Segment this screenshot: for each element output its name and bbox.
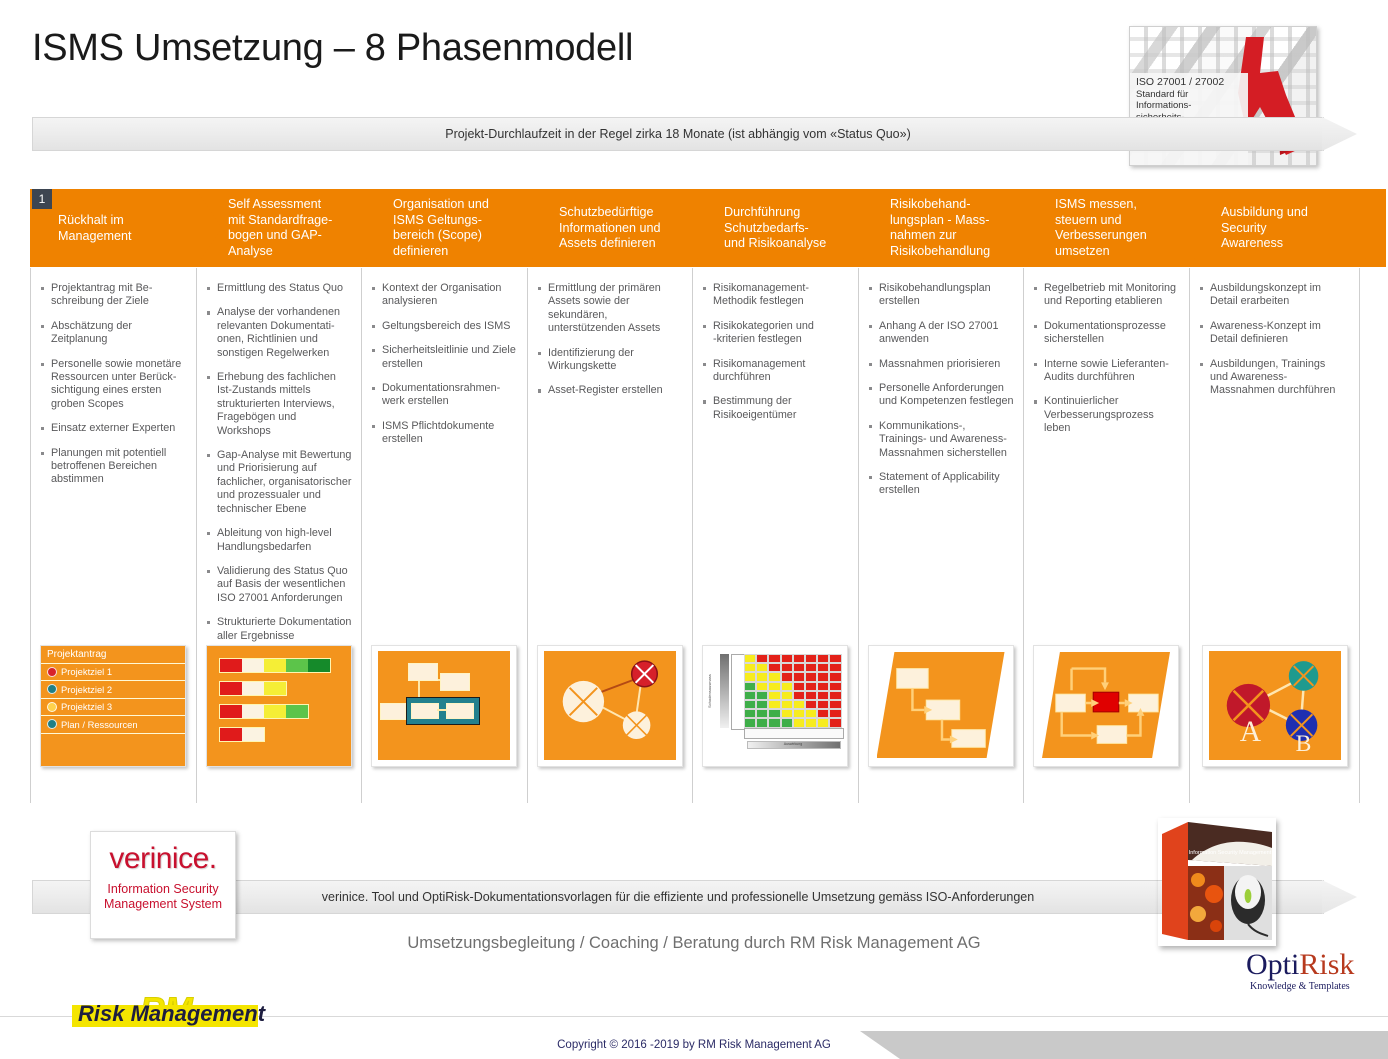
projektantrag-row: Projektziel 1 [41, 664, 185, 682]
risk-matrix-cell [744, 691, 756, 700]
risk-matrix-cell [768, 672, 780, 681]
node-box [380, 703, 406, 720]
scope-diagram [378, 651, 510, 760]
bullet-item: Ermittlung der primären Assets sowie der… [538, 282, 684, 336]
phase-bullet-list-3: Kontext der Organisation analysierenGelt… [362, 268, 527, 447]
bullet-item: Ermittlung des Status Quo [207, 282, 353, 295]
gap-bar [219, 727, 265, 742]
gap-bar-segment [286, 705, 308, 718]
phase-bullet-list-2: Ermittlung des Status QuoAnalyse der vor… [197, 268, 361, 643]
risk-matrix-cell [768, 682, 780, 691]
status-dot-icon [47, 719, 57, 729]
node-box [411, 703, 439, 719]
flow-loop-parallelogram [1042, 652, 1170, 758]
rm-wordmark: Risk Management [78, 1001, 265, 1027]
gap-bar-segment [242, 728, 264, 741]
abc-graph-svg: AB [1209, 651, 1341, 760]
risk-matrix-cell [781, 672, 793, 681]
bullet-item: Awareness-Konzept im Detail definieren [1200, 320, 1351, 347]
flow-diagram-svg [877, 652, 1005, 758]
status-dot-icon [47, 684, 57, 694]
gap-bar-segment [220, 659, 242, 672]
bullet-item: Risikobehandlungsplan erstellen [869, 282, 1015, 309]
risk-matrix-cell [793, 672, 805, 681]
risk-matrix-cell [793, 718, 805, 727]
risk-matrix-ylabel: Schadensausmass [707, 654, 719, 728]
bullet-item: Risikomanagement- Methodik festlegen [703, 282, 850, 309]
risk-matrix-cell [756, 691, 768, 700]
risk-matrix-cell [768, 691, 780, 700]
risk-matrix-cell [829, 691, 841, 700]
page-title: ISMS Umsetzung – 8 Phasenmodell [32, 28, 633, 70]
risk-matrix-cell [756, 700, 768, 709]
status-dot-icon [47, 667, 57, 677]
risk-matrix-cell [781, 691, 793, 700]
bullet-item: Kommunikations-, Trainings- und Awarenes… [869, 420, 1015, 460]
phase-chevron-8[interactable]: 8Ausbildung und Security Awareness [1189, 189, 1386, 267]
svg-text:Information Security Managemen: Information Security Management [1189, 850, 1272, 856]
bullet-item: Asset-Register erstellen [538, 384, 684, 397]
bullet-item: Risikokategorien und -kriterien festlege… [703, 320, 850, 347]
connector [437, 709, 446, 711]
phase-number-badge-1: 1 [32, 189, 52, 209]
phase-chevron-3[interactable]: 3Organisation und ISMS Geltungs- bereich… [361, 189, 553, 267]
risk-matrix-cell [805, 654, 817, 663]
phase-chevron-4[interactable]: 4Schutzbedürftige Informationen und Asse… [527, 189, 718, 267]
phase-thumbnail-1[interactable]: ProjektantragProjektziel 1Projektziel 2P… [40, 645, 186, 767]
gap-bar-segment [242, 659, 264, 672]
phase-title-1: Rückhalt im Management [58, 213, 192, 244]
duration-banner-label: Projekt-Durchlaufzeit in der Regel zirka… [32, 117, 1324, 151]
phase-thumbnail-2[interactable] [206, 645, 352, 767]
phase-title-6: Risikobehand- lungsplan - Mass- nahmen z… [890, 197, 1019, 259]
projektantrag-table: ProjektantragProjektziel 1Projektziel 2P… [41, 646, 185, 766]
phase-bullet-list-4: Ermittlung der primären Assets sowie der… [528, 268, 692, 398]
asset-graph-svg [544, 651, 676, 760]
projektantrag-row-label: Projektziel 2 [61, 684, 112, 695]
bullet-item: Kontext der Organisation analysieren [372, 282, 519, 309]
bullet-item: Dokumentationsprozesse sicherstellen [1034, 320, 1181, 347]
bullet-item: Massnahmen priorisieren [869, 358, 1015, 371]
optirisk-wordmark: OptiRisk [1246, 950, 1388, 980]
phase-chevron-5[interactable]: 5Durchführung Schutzbedarfs- und Risikoa… [692, 189, 884, 267]
risk-matrix-cell [817, 700, 829, 709]
risk-matrix-cell [744, 663, 756, 672]
gap-bar-segment [264, 705, 286, 718]
verinice-logo: verinice. Information Security Managemen… [90, 831, 236, 939]
asset-graph [544, 651, 676, 760]
bullet-item: Erhebung des fachlichen Ist-Zustands mit… [207, 371, 353, 438]
bullet-item: Projektantrag mit Be- schreibung der Zie… [41, 282, 188, 309]
phase-chevron-6[interactable]: 6Risikobehand- lungsplan - Mass- nahmen … [858, 189, 1049, 267]
bullet-item: Validierung des Status Quo auf Basis der… [207, 565, 353, 605]
risk-matrix-cell [744, 672, 756, 681]
bullet-item: Geltungsbereich des ISMS [372, 320, 519, 333]
svg-text:B: B [1295, 731, 1311, 757]
risk-matrix-cell [744, 682, 756, 691]
risk-matrix-y-gradient [720, 654, 729, 728]
gap-bar-segment [220, 728, 242, 741]
risk-matrix-cell [756, 654, 768, 663]
risk-matrix-cell [829, 709, 841, 718]
bullet-item: Einsatz externer Experten [41, 422, 188, 435]
svg-text:A: A [1239, 716, 1261, 748]
node-box [440, 673, 470, 691]
bullet-item: Planungen mit potentiell betroffenen Ber… [41, 447, 188, 487]
optirisk-word-risk: Risk [1299, 948, 1354, 981]
risk-matrix-cell [817, 682, 829, 691]
bullet-item: Sicherheitsleitlinie und Ziele erstellen [372, 344, 519, 371]
bullet-item: ISMS Pflichtdokumente erstellen [372, 420, 519, 447]
bullet-item: Identifizierung der Wirkungskette [538, 347, 684, 374]
iso-line3: Informations- [1136, 100, 1244, 112]
copyright-label: Copyright © 2016 -2019 by RM Risk Manage… [0, 1031, 1388, 1059]
phase-thumbnail-8[interactable]: AB [1202, 645, 1348, 767]
phase-thumbnail-row: ProjektantragProjektziel 1Projektziel 2P… [30, 645, 1360, 775]
bullet-item: Anhang A der ISO 27001 anwenden [869, 320, 1015, 347]
phase-title-8: Ausbildung und Security Awareness [1221, 205, 1356, 252]
gap-bar-segment [242, 705, 264, 718]
risk-matrix-cell [805, 672, 817, 681]
copyright-bar: Copyright © 2016 -2019 by RM Risk Manage… [0, 1031, 1388, 1059]
risk-matrix-cell [793, 700, 805, 709]
risk-matrix-cell [768, 709, 780, 718]
projektantrag-row: Projektziel 2 [41, 681, 185, 699]
risk-matrix-cell [805, 709, 817, 718]
risk-matrix-cell [793, 709, 805, 718]
bullet-item: Ausbildungen, Trainings und Awareness- M… [1200, 358, 1351, 398]
phase-title-4: Schutzbedürftige Informationen und Asset… [559, 205, 688, 252]
risk-matrix-cell [805, 682, 817, 691]
phase-title-3: Organisation und ISMS Geltungs- bereich … [393, 197, 523, 259]
risk-matrix-cell [768, 718, 780, 727]
bullet-item: Risikomanagement durchführen [703, 358, 850, 385]
risk-matrix-cell [768, 663, 780, 672]
phase-title-5: Durchführung Schutzbedarfs- und Risikoan… [724, 205, 854, 252]
phase-thumbnail-7[interactable] [1033, 645, 1179, 767]
risk-matrix-cell [817, 718, 829, 727]
bullet-item: Strukturierte Dokumentation aller Ergebn… [207, 616, 353, 643]
gap-bar [219, 704, 309, 719]
risk-matrix-cell [781, 682, 793, 691]
risk-matrix-cell [805, 663, 817, 672]
slide-root: ISMS Umsetzung – 8 Phasenmodell ISO 2700… [0, 0, 1388, 1059]
risk-matrix-rowheads [731, 654, 745, 730]
risk-matrix-cell [744, 709, 756, 718]
bullet-item: Interne sowie Lieferanten- Audits durchf… [1034, 358, 1181, 385]
phase-chevron-7[interactable]: 7ISMS messen, steuern und Verbesserungen… [1023, 189, 1215, 267]
risk-matrix-cell [768, 700, 780, 709]
gap-bar-segment [286, 659, 308, 672]
phase-bullet-list-1: Projektantrag mit Be- schreibung der Zie… [31, 268, 196, 487]
phase-header-row: 1Rückhalt im Management2Self Assessment … [30, 189, 1360, 267]
risk-matrix-cell [756, 709, 768, 718]
risk-matrix-cell [793, 691, 805, 700]
iso-line2: Standard für [1136, 89, 1244, 101]
risk-matrix-cell [744, 718, 756, 727]
phase-title-7: ISMS messen, steuern und Verbesserungen … [1055, 197, 1185, 259]
gap-bar-segment [220, 682, 242, 695]
risk-matrix-xaxis [744, 728, 844, 739]
phase-title-2: Self Assessment mit Standardfrage- bogen… [228, 197, 357, 259]
risk-matrix-cell [817, 672, 829, 681]
abc-graph: AB [1209, 651, 1341, 760]
phase-bullet-list-6: Risikobehandlungsplan erstellenAnhang A … [859, 268, 1023, 498]
risk-matrix-cell [817, 709, 829, 718]
risk-matrix-cell [781, 654, 793, 663]
tools-band-arrow-tip [1322, 880, 1357, 914]
phase-thumbnail-5[interactable]: SchadensausmassAuswirkung [702, 645, 848, 767]
risk-matrix-cell [829, 682, 841, 691]
flow-loop-svg [1042, 652, 1170, 758]
projektantrag-row-label: Projektziel 1 [61, 666, 112, 677]
risk-matrix-cell [781, 663, 793, 672]
bullet-item: Abschätzung der Zeitplanung [41, 320, 188, 347]
risk-matrix: SchadensausmassAuswirkung [703, 646, 847, 766]
risk-matrix-cell [768, 654, 780, 663]
projektantrag-row: Projektziel 3 [41, 699, 185, 717]
flow-parallelogram [877, 652, 1005, 758]
phase-bullet-list-8: Ausbildungskonzept im Detail erarbeitenA… [1190, 268, 1359, 398]
risk-matrix-cell [805, 718, 817, 727]
gap-bar-segment [264, 659, 286, 672]
duration-banner: Projekt-Durchlaufzeit in der Regel zirka… [32, 117, 1357, 151]
gap-analysis-bars [207, 646, 351, 766]
risk-matrix-cell [793, 682, 805, 691]
verinice-sub1: Information Security [91, 882, 235, 897]
bullet-item: Bestimmung der Risikoeigentümer [703, 395, 850, 422]
bullet-item: Personelle sowie monetäre Ressourcen unt… [41, 358, 188, 412]
phase-bullet-list-5: Risikomanagement- Methodik festlegenRisi… [693, 268, 858, 422]
gap-bar-segment [264, 682, 286, 695]
risk-matrix-cell [781, 718, 793, 727]
iso-line1: ISO 27001 / 27002 [1136, 77, 1244, 89]
risk-matrix-cell [781, 700, 793, 709]
risk-matrix-cell [817, 691, 829, 700]
risk-matrix-cell [756, 663, 768, 672]
risk-matrix-cell [829, 672, 841, 681]
optirisk-tagline: Knowledge & Templates [1250, 981, 1388, 992]
phase-thumbnail-6[interactable] [868, 645, 1014, 767]
risk-matrix-cell [744, 654, 756, 663]
risk-matrix-cell [744, 700, 756, 709]
optirisk-box-image: Information Security Management [1158, 818, 1276, 946]
risk-matrix-xlabel: Auswirkung [747, 741, 839, 747]
node-box [446, 703, 474, 719]
risk-matrix-cell [829, 663, 841, 672]
projektantrag-header: Projektantrag [41, 646, 185, 664]
risk-matrix-cell [805, 700, 817, 709]
bullet-item: Analyse der vorhandenen relevanten Dokum… [207, 306, 353, 360]
verinice-wordmark: verinice. [91, 842, 235, 876]
risk-matrix-cell [756, 672, 768, 681]
risk-matrix-cell [817, 663, 829, 672]
duration-banner-arrow-tip [1322, 117, 1357, 151]
risk-matrix-cell [829, 718, 841, 727]
risk-matrix-cell [756, 718, 768, 727]
projektantrag-row-label: Plan / Ressourcen [61, 719, 138, 730]
phase-thumbnail-3[interactable] [371, 645, 517, 767]
bullet-item: Ableitung von high-level Handlungsbedarf… [207, 527, 353, 554]
phase-chevron-2[interactable]: 2Self Assessment mit Standardfrage- boge… [196, 189, 387, 267]
risk-matrix-cell [781, 709, 793, 718]
gap-bar [219, 658, 331, 673]
bullet-item: Statement of Applicability erstellen [869, 471, 1015, 498]
risk-matrix-cell [829, 654, 841, 663]
bullet-item: Dokumentationsrahmen- werk erstellen [372, 382, 519, 409]
gap-bar-segment [242, 682, 264, 695]
bullet-item: Gap-Analyse mit Bewertung und Priorisier… [207, 449, 353, 516]
bullet-item: Kontinuierlicher Verbesserungsprozess le… [1034, 395, 1181, 435]
phase-bullet-list-7: Regelbetrieb mit Monitoring und Reportin… [1024, 268, 1189, 436]
optirisk-word-opti: Opti [1246, 948, 1299, 981]
status-dot-icon [47, 702, 57, 712]
risk-matrix-cell [829, 700, 841, 709]
verinice-sub2: Management System [91, 897, 235, 912]
gap-bar-segment [220, 705, 242, 718]
risk-matrix-cell [817, 654, 829, 663]
risk-matrix-cell [756, 682, 768, 691]
risk-matrix-cell [805, 691, 817, 700]
gap-bar [219, 681, 287, 696]
risk-matrix-cell [793, 663, 805, 672]
phase-thumbnail-4[interactable] [537, 645, 683, 767]
bullet-item: Regelbetrieb mit Monitoring und Reportin… [1034, 282, 1181, 309]
risk-matrix-cell [793, 654, 805, 663]
projektantrag-row-label: Projektziel 3 [61, 701, 112, 712]
bullet-item: Ausbildungskonzept im Detail erarbeiten [1200, 282, 1351, 309]
projektantrag-row: Plan / Ressourcen [41, 716, 185, 734]
node-box [408, 663, 438, 681]
phase-chevron-1[interactable]: 1Rückhalt im Management [30, 189, 222, 267]
optirisk-logo: Information Security Management OptiRisk… [1158, 818, 1288, 958]
bullet-item: Personelle Anforderungen und Kompetenzen… [869, 382, 1015, 409]
gap-bar-segment [308, 659, 330, 672]
